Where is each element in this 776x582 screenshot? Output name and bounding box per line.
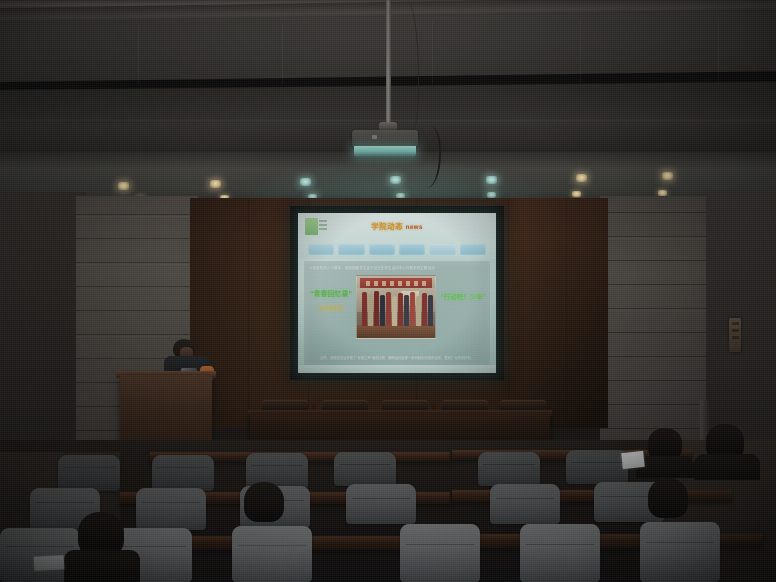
audience-person [648, 478, 688, 518]
ceiling-projector [352, 130, 418, 147]
audience-person [244, 482, 284, 522]
slide-group-photo [356, 275, 436, 339]
audience-seat[interactable] [152, 455, 214, 491]
audience-seat[interactable] [334, 452, 396, 486]
projector-light-beam [354, 146, 416, 157]
audience-seat[interactable] [400, 524, 480, 582]
slide-header: 学院动态 news [298, 213, 496, 259]
slide-paragraph-top: 为迎接校庆六十周年，我院团委学生会于近日在学生活动中心开展系列主题活动 [309, 266, 485, 271]
handout-paper [34, 555, 65, 571]
ceiling-light-icon [390, 176, 401, 184]
audience-seat[interactable] [520, 524, 600, 582]
ceiling-light-icon [118, 182, 129, 190]
ceiling-light-icon [486, 176, 497, 184]
audience-seat[interactable] [478, 452, 540, 486]
slide-green-text-right: “行动吧！少年” [441, 291, 487, 301]
slide-title: 学院动态 news [298, 221, 496, 232]
lecture-hall-photo: 学院动态 news 为迎接校庆六十周年，我院团委学生会于近日在学生活动中心开展系… [0, 0, 776, 582]
slide-yellow-text-left: 主题摄影展 [318, 305, 343, 312]
audience-person-shoulders [636, 456, 694, 478]
slide-title-text: 学院动态 [371, 222, 403, 231]
projection-screen[interactable]: 学院动态 news 为迎接校庆六十周年，我院团委学生会于近日在学生活动中心开展系… [298, 213, 496, 373]
slide-nav-item-2[interactable] [369, 244, 395, 255]
slide-nav-item-1[interactable] [338, 244, 364, 255]
slide-footer-bar [298, 365, 496, 373]
audience-seat[interactable] [346, 484, 416, 524]
ceiling-seam [718, 18, 719, 84]
photo-red-banner [360, 278, 432, 288]
audience-seat[interactable] [58, 455, 120, 491]
wall-control-plate[interactable] [729, 318, 741, 352]
photo-floor [357, 325, 435, 338]
slide-content-area: 为迎接校庆六十周年，我院团委学生会于近日在学生活动中心开展系列主题活动 [304, 261, 490, 367]
ceiling-light-icon [210, 180, 221, 188]
projector-mount-pole [386, 0, 391, 128]
slide-green-text-left: “青春回忆录” [310, 289, 352, 299]
audience-seat[interactable] [136, 488, 206, 530]
ceiling-light-icon [572, 191, 581, 197]
slide-nav-item-4[interactable] [429, 244, 455, 255]
audience-person-shoulders [694, 454, 760, 480]
audience-seat[interactable] [232, 526, 312, 582]
audience-seat[interactable] [566, 450, 628, 484]
slide-title-suffix: news [406, 225, 423, 231]
slide-paragraph-bottom: 此外，我院还先后开展了“青春之声”演讲比赛、趣味运动会等一系列精彩纷呈的活动，受… [312, 356, 482, 361]
slide-nav-bar [308, 244, 486, 255]
audience-seat[interactable] [490, 484, 560, 524]
slide-nav-item-3[interactable] [399, 244, 425, 255]
ceiling-seam [282, 24, 283, 84]
slide-nav-item-0[interactable] [308, 244, 334, 255]
audience-person-shoulders [64, 550, 140, 582]
slide-nav-item-5[interactable] [460, 244, 486, 255]
ceiling-seam [580, 20, 581, 84]
ceiling-light-icon [576, 174, 587, 182]
projector-lens-icon [372, 135, 377, 139]
ceiling-seam [138, 26, 139, 84]
ceiling-light-icon [662, 172, 673, 180]
audience-seat[interactable] [640, 522, 720, 582]
handout-paper [621, 451, 645, 469]
ceiling-seam [432, 22, 433, 84]
ceiling-light-icon [300, 178, 311, 186]
